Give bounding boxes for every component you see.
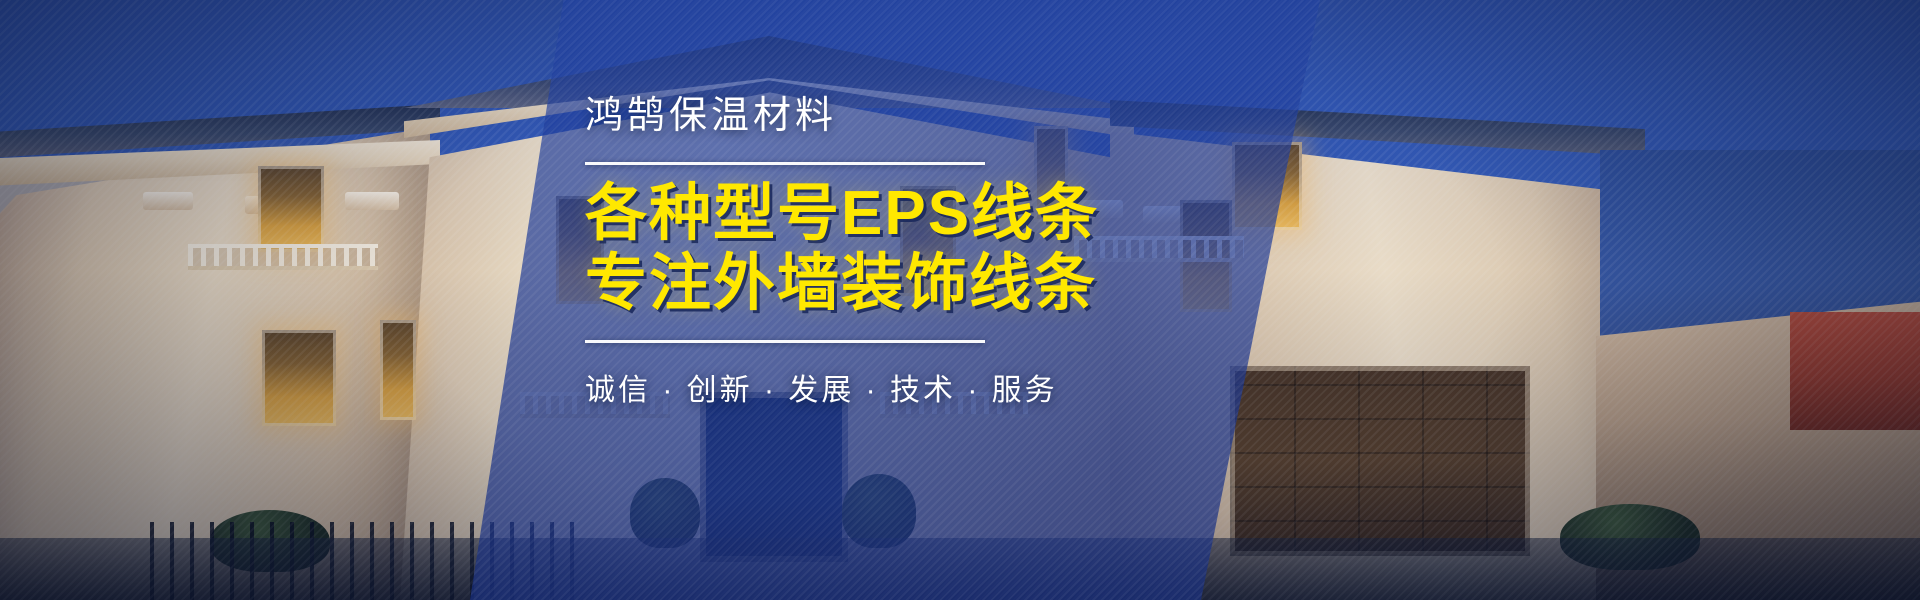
company-name: 鸿鹄保温材料 [585,96,1285,138]
promo-banner: 鸿鹄保温材料 各种型号EPS线条 专注外墙装饰线条 诚信 · 创新 · 发展 ·… [0,0,1920,600]
headline-line-2: 专注外墙装饰线条 [585,249,1285,320]
headline-line-1: 各种型号EPS线条 [585,179,1285,250]
slogan: 诚信 · 创新 · 发展 · 技术 · 服务 [585,365,1285,409]
divider-top [585,162,985,165]
divider-bottom [585,340,985,343]
banner-text-block: 鸿鹄保温材料 各种型号EPS线条 专注外墙装饰线条 诚信 · 创新 · 发展 ·… [585,96,1285,409]
